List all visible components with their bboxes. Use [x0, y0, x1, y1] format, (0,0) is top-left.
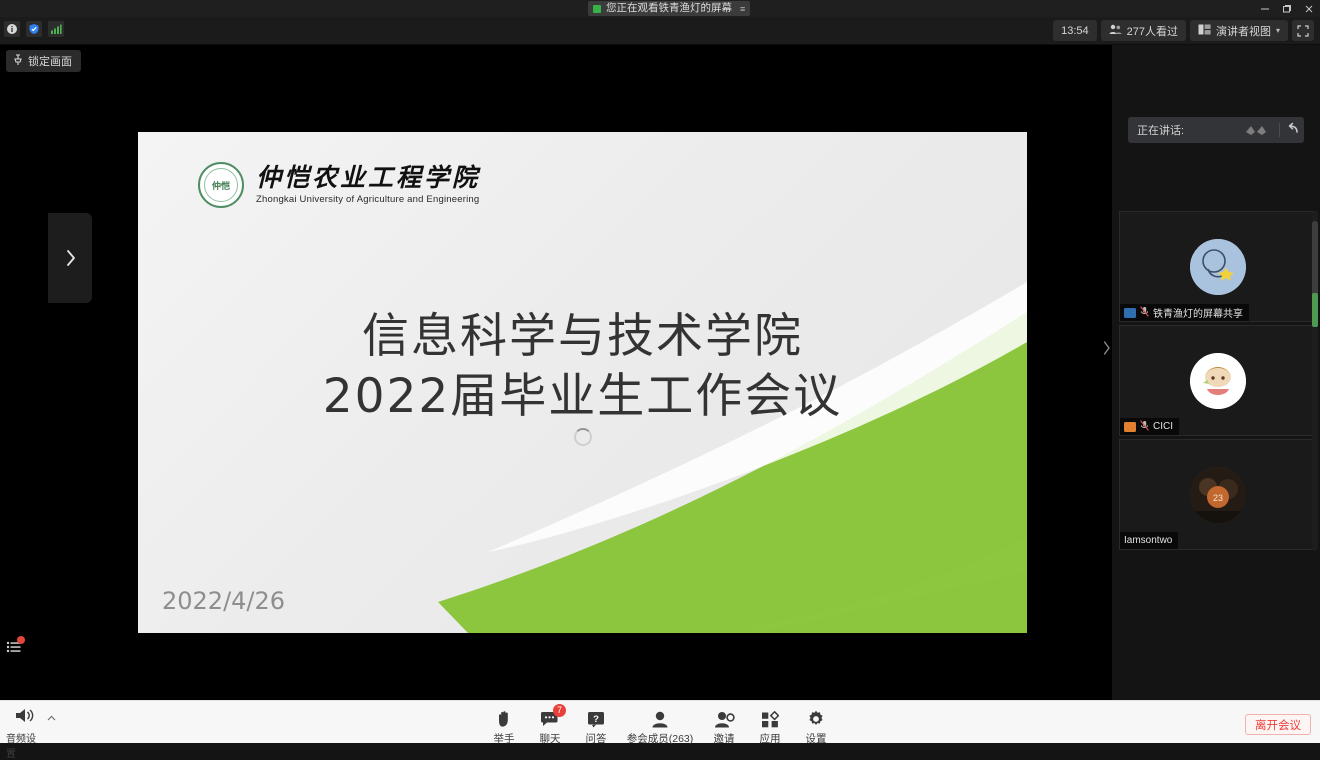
- participant-label: Iamsontwo: [1120, 532, 1178, 549]
- settings-button[interactable]: 设置: [793, 706, 839, 746]
- scrollbar-thumb[interactable]: [1312, 221, 1318, 299]
- gear-icon: [807, 708, 825, 728]
- university-seal-icon: 仲恺: [198, 162, 244, 208]
- invite-button[interactable]: 邀请: [701, 706, 747, 746]
- participant-name: CICI: [1153, 421, 1173, 432]
- minimize-button[interactable]: [1254, 0, 1276, 17]
- screen-share-indicator-icon: [593, 5, 601, 13]
- presentation-slide: 仲恺 仲恺农业工程学院 Zhongkai University of Agric…: [138, 132, 1027, 633]
- seal-text: 仲恺: [212, 179, 230, 192]
- notes-badge: [17, 636, 25, 644]
- chat-button[interactable]: 7 聊天: [527, 706, 573, 746]
- participant-label: 铁青渔灯的屏幕共享: [1120, 304, 1249, 321]
- apps-label: 应用: [760, 731, 781, 746]
- loading-spinner-icon: [574, 428, 592, 446]
- window-title-bar: 您正在观看铁青渔灯的屏幕 ≡: [0, 0, 1320, 17]
- divider: [1279, 123, 1280, 137]
- apps-icon: [761, 708, 779, 728]
- view-mode-selector[interactable]: 演讲者视图 ▾: [1190, 20, 1288, 41]
- panel-scrollbar[interactable]: [1312, 211, 1318, 551]
- svg-text:23: 23: [1213, 493, 1223, 503]
- chevron-down-icon: ▾: [1276, 26, 1280, 35]
- avatar: [1190, 353, 1246, 409]
- apps-button[interactable]: 应用: [747, 706, 793, 746]
- meeting-clock: 13:54: [1053, 20, 1097, 41]
- avatar: [1190, 239, 1246, 295]
- chat-unread-badge: 7: [553, 704, 566, 717]
- meeting-actions: 举手 7 聊天 ? 问答: [481, 706, 839, 746]
- fullscreen-button[interactable]: [1292, 20, 1314, 41]
- invite-icon: [714, 708, 735, 728]
- active-speaker-label: 正在讲话:: [1137, 122, 1184, 138]
- participants-button[interactable]: 参会成员(263): [619, 706, 701, 746]
- viewer-count-text: 277人看过: [1127, 23, 1178, 39]
- camera-off-icon: [1124, 422, 1136, 432]
- slide-date: 2022/4/26: [162, 587, 285, 615]
- invite-label: 邀请: [714, 731, 735, 746]
- expand-panel-toggle[interactable]: [1100, 335, 1112, 361]
- tool-strip-left-group: [4, 21, 64, 37]
- clock-text: 13:54: [1061, 25, 1089, 37]
- meeting-tool-strip: 13:54 277人看过 演讲者视图 ▾: [0, 17, 1320, 45]
- settings-label: 设置: [806, 731, 827, 746]
- pin-icon: [13, 54, 23, 69]
- raise-hand-button[interactable]: 举手: [481, 706, 527, 746]
- signal-bars-icon[interactable]: [48, 21, 64, 37]
- participant-name: 铁青渔灯的屏幕共享: [1153, 305, 1243, 320]
- tool-strip-right-group: 13:54 277人看过 演讲者视图 ▾: [1053, 20, 1314, 41]
- university-logo: 仲恺 仲恺农业工程学院 Zhongkai University of Agric…: [198, 162, 480, 208]
- participant-tile[interactable]: 23 Iamsontwo: [1119, 439, 1317, 550]
- avatar: 23: [1190, 467, 1246, 523]
- participant-side-panel: 正在讲话: 铁青渔灯的屏幕共享: [1112, 45, 1320, 700]
- university-name-cn: 仲恺农业工程学院: [256, 165, 480, 191]
- svg-text:?: ?: [593, 714, 599, 725]
- slide-title-line-1: 信息科学与技术学院: [138, 307, 1027, 367]
- active-speaker-bar: 正在讲话:: [1128, 117, 1304, 143]
- participant-name: Iamsontwo: [1124, 535, 1172, 546]
- qa-button[interactable]: ? 问答: [573, 706, 619, 746]
- participants-icon: [650, 708, 670, 728]
- qa-icon: ?: [587, 708, 605, 728]
- leave-meeting-button[interactable]: 离开会议: [1245, 714, 1311, 735]
- sound-wave-icon: [1243, 123, 1273, 137]
- qa-label: 问答: [586, 731, 607, 746]
- viewer-count-button[interactable]: 277人看过: [1101, 20, 1186, 41]
- speaker-view-icon: [1198, 24, 1211, 38]
- raise-hand-icon: [495, 708, 514, 728]
- participants-label: 参会成员(263): [627, 731, 694, 746]
- screen-share-notice-text: 您正在观看铁青渔灯的屏幕: [606, 1, 732, 16]
- notes-icon[interactable]: [5, 638, 23, 656]
- participant-tile[interactable]: CICI: [1119, 325, 1317, 436]
- speaker-icon: [14, 707, 36, 729]
- share-menu-icon[interactable]: ≡: [740, 4, 744, 14]
- lock-screen-button[interactable]: 锁定画面: [6, 50, 81, 72]
- chat-label: 聊天: [540, 731, 561, 746]
- viewers-icon: [1109, 24, 1122, 38]
- participant-tile[interactable]: 铁青渔灯的屏幕共享: [1119, 211, 1317, 322]
- return-arrow-icon[interactable]: [1286, 122, 1300, 138]
- slide-title-line-2: 2022届毕业生工作会议: [138, 367, 1027, 427]
- screen-share-notice[interactable]: 您正在观看铁青渔灯的屏幕 ≡: [588, 1, 750, 16]
- window-controls: [1254, 0, 1320, 17]
- meeting-control-bar: 音频设置 举手 7 聊天: [0, 700, 1320, 743]
- chevron-up-icon[interactable]: [47, 713, 56, 723]
- audio-settings-button[interactable]: 音频设置: [6, 707, 56, 760]
- info-icon[interactable]: [4, 21, 20, 37]
- raise-hand-label: 举手: [494, 731, 515, 746]
- shared-screen-stage: 锁定画面 仲恺 仲恺农业工程学院 Zhongkai Univers: [0, 45, 1112, 700]
- audio-level-indicator: [1312, 293, 1318, 327]
- participant-label: CICI: [1120, 418, 1179, 435]
- slide-title: 信息科学与技术学院 2022届毕业生工作会议: [138, 307, 1027, 427]
- mic-muted-icon: [1140, 420, 1149, 434]
- shield-icon[interactable]: [26, 21, 42, 37]
- close-button[interactable]: [1298, 0, 1320, 17]
- audio-settings-label: 音频设置: [6, 730, 44, 760]
- university-name-en: Zhongkai University of Agriculture and E…: [256, 194, 480, 205]
- collapse-panel-toggle[interactable]: [48, 213, 92, 303]
- lock-screen-label: 锁定画面: [28, 53, 72, 69]
- screen-share-icon: [1124, 308, 1136, 318]
- maximize-button[interactable]: [1276, 0, 1298, 17]
- view-mode-text: 演讲者视图: [1216, 23, 1271, 39]
- mic-muted-icon: [1140, 306, 1149, 320]
